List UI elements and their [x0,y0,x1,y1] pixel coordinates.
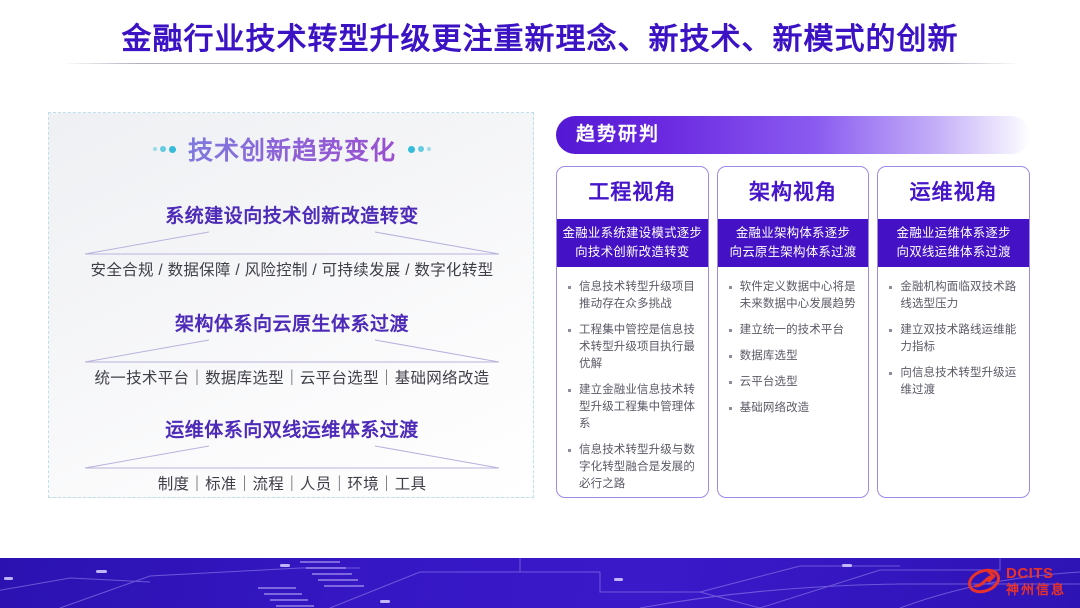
left-panel-heading-label: 技术创新趋势变化 [188,131,396,167]
card-engineering-title: 工程视角 [557,167,708,219]
card-operations-bullets: 金融机构面临双技术路线选型压力 建立双技术路线运维能力指标 向信息技术转型升级运… [878,267,1029,408]
card-architecture[interactable]: 架构视角 金融业架构体系逐步 向云原生架构体系过渡 软件定义数据中心将是未来数据… [717,166,870,498]
list-item: 建立双技术路线运维能力指标 [887,322,1020,356]
card-engineering[interactable]: 工程视角 金融业系统建设模式逐步 向技术创新改造转变 信息技术转型升级项目推动存… [556,166,709,498]
dots-icon-right [408,146,431,153]
list-item: 数据库选型 [727,348,860,365]
list-item: 信息技术转型升级项目推动存在众多挑战 [566,279,699,313]
card-architecture-banner-line-2: 向云原生架构体系过渡 [722,243,865,262]
dots-icon-left [153,146,176,153]
funnel-shape-1 [49,228,535,258]
tier-2-title: 架构体系向云原生体系过渡 [49,309,535,336]
list-item: 云平台选型 [727,374,860,391]
trend-change-panel: 技术创新趋势变化 系统建设向技术创新改造转变 安全合规 / 数据保障 / 风险控… [48,112,534,498]
list-item: 软件定义数据中心将是未来数据中心发展趋势 [727,279,860,313]
trend-analysis-banner-label: 趋势研判 [576,116,660,154]
card-operations-banner-line-1: 金融业运维体系逐步 [882,224,1025,243]
list-item: 信息技术转型升级与数字化转型融合是发展的必行之路 [566,442,699,493]
tier-1-items: 安全合规 / 数据保障 / 风险控制 / 可持续发展 / 数字化转型 [49,258,535,280]
card-engineering-banner-line-2: 向技术创新改造转变 [561,243,704,262]
funnel-shape-2 [49,336,535,366]
list-item: 向信息技术转型升级运维过渡 [887,365,1020,399]
footer-band: DCITS 神州信息 [0,558,1080,608]
dcits-mark-icon [967,564,1001,598]
tier-3-items: 制度｜标准｜流程｜人员｜环境｜工具 [49,472,535,494]
tier-1-title: 系统建设向技术创新改造转变 [49,201,535,228]
card-operations[interactable]: 运维视角 金融业运维体系逐步 向双线运维体系过渡 金融机构面临双技术路线选型压力… [877,166,1030,498]
card-operations-title: 运维视角 [878,167,1029,219]
card-architecture-title: 架构视角 [718,167,869,219]
card-engineering-bullets: 信息技术转型升级项目推动存在众多挑战 工程集中管控是信息技术转型升级项目执行最优… [557,267,708,498]
list-item: 工程集中管控是信息技术转型升级项目执行最优解 [566,322,699,373]
card-engineering-banner: 金融业系统建设模式逐步 向技术创新改造转变 [557,219,708,267]
tier-2: 架构体系向云原生体系过渡 统一技术平台｜数据库选型｜云平台选型｜基础网络改造 [49,309,535,388]
tier-3-title: 运维体系向双线运维体系过渡 [49,415,535,442]
list-item: 金融机构面临双技术路线选型压力 [887,279,1020,313]
tier-1: 系统建设向技术创新改造转变 安全合规 / 数据保障 / 风险控制 / 可持续发展… [49,201,535,280]
card-operations-banner: 金融业运维体系逐步 向双线运维体系过渡 [878,219,1029,267]
funnel-shape-3 [49,442,535,472]
tier-2-items: 统一技术平台｜数据库选型｜云平台选型｜基础网络改造 [49,366,535,388]
card-operations-banner-line-2: 向双线运维体系过渡 [882,243,1025,262]
page-title: 金融行业技术转型升级更注重新理念、新技术、新模式的创新 [0,14,1080,58]
logo-cn-text: 神州信息 [1006,583,1066,596]
card-architecture-banner-line-1: 金融业架构体系逐步 [722,224,865,243]
logo-en-text: DCITS [1006,566,1066,581]
list-item: 建立金融业信息技术转型升级工程集中管理体系 [566,382,699,433]
left-panel-heading: 技术创新趋势变化 [49,131,535,167]
list-item: 基础网络改造 [727,400,860,417]
perspective-cards: 工程视角 金融业系统建设模式逐步 向技术创新改造转变 信息技术转型升级项目推动存… [556,166,1030,498]
title-divider [62,63,1020,64]
tier-3: 运维体系向双线运维体系过渡 制度｜标准｜流程｜人员｜环境｜工具 [49,415,535,494]
card-engineering-banner-line-1: 金融业系统建设模式逐步 [561,224,704,243]
logo-wordmark: DCITS 神州信息 [1006,566,1066,596]
company-logo: DCITS 神州信息 [967,564,1066,598]
trend-analysis-banner: 趋势研判 [556,116,1030,154]
card-architecture-banner: 金融业架构体系逐步 向云原生架构体系过渡 [718,219,869,267]
card-architecture-bullets: 软件定义数据中心将是未来数据中心发展趋势 建立统一的技术平台 数据库选型 云平台… [718,267,869,426]
list-item: 建立统一的技术平台 [727,322,860,339]
circuit-pattern-icon [0,558,1080,608]
